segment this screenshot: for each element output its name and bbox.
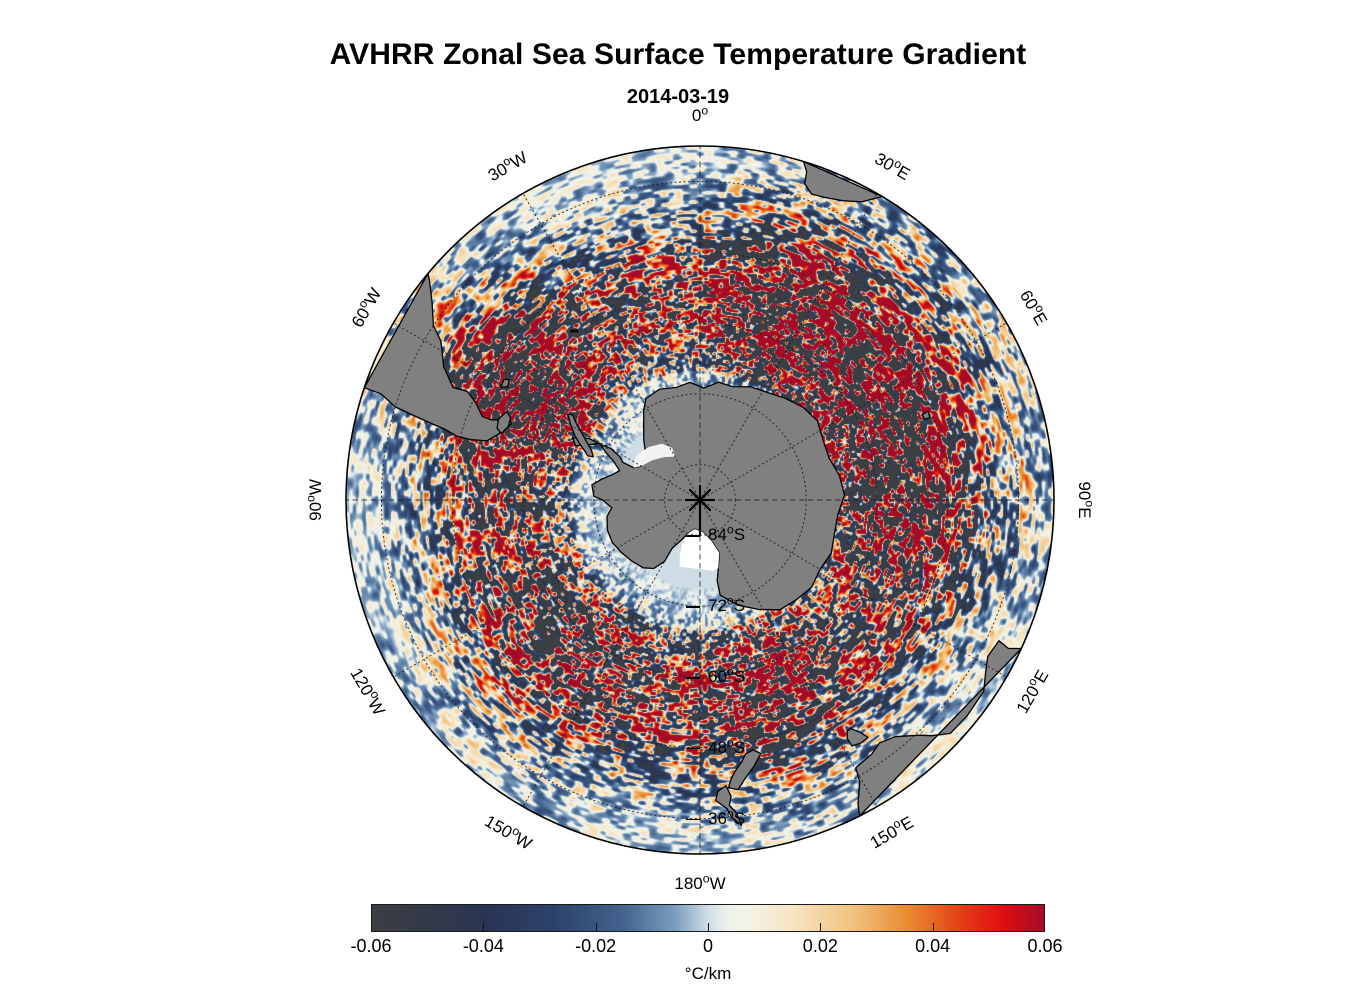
colorbar-tick bbox=[708, 923, 709, 932]
longitude-label-00: 0o bbox=[692, 106, 708, 126]
latitude-tick-36S bbox=[686, 819, 700, 821]
longitude-label-180W: 180oW bbox=[674, 874, 725, 894]
colorbar-ticks bbox=[371, 904, 1045, 932]
latitude-label-36S: 36oS bbox=[708, 809, 745, 829]
latitude-tick-84S bbox=[686, 535, 700, 537]
latitude-label-72S: 72oS bbox=[708, 596, 745, 616]
latitude-tick-60S bbox=[686, 677, 700, 679]
landmass-tierra-del-fuego bbox=[497, 412, 511, 434]
landmass-antarctica bbox=[573, 382, 845, 610]
figure-subtitle: 2014-03-19 bbox=[0, 86, 1356, 109]
landmass-south-america bbox=[364, 273, 511, 441]
latitude-label-84S: 84oS bbox=[708, 525, 745, 545]
polar-map: 0o30oE60oE90oE120oE150oE180oW150oW120oW9… bbox=[345, 145, 1055, 855]
landmass-falklands bbox=[501, 379, 510, 387]
map-disc bbox=[345, 145, 1055, 855]
landmass-peninsula bbox=[568, 414, 593, 457]
colorbar-tick-label: 0.02 bbox=[803, 936, 838, 957]
colorbar-tick-label: 0.04 bbox=[915, 936, 950, 957]
longitude-label-90E: 90oE bbox=[1074, 481, 1094, 518]
colorbar-tick bbox=[483, 923, 484, 932]
landmass-tasmania bbox=[847, 729, 868, 746]
colorbar-tick-label: -0.02 bbox=[575, 936, 616, 957]
colorbar-tick bbox=[933, 923, 934, 932]
colorbar-unit-label: °C/km bbox=[371, 964, 1045, 984]
colorbar-tick bbox=[820, 923, 821, 932]
longitude-label-90W: 90oW bbox=[306, 479, 326, 521]
colorbar-tick-label: 0.06 bbox=[1027, 936, 1062, 957]
latitude-label-60S: 60oS bbox=[708, 667, 745, 687]
map-overlay bbox=[345, 145, 1055, 855]
figure-title: AVHRR Zonal Sea Surface Temperature Grad… bbox=[0, 38, 1356, 72]
latitude-tick-48S bbox=[686, 748, 700, 750]
colorbar-ticklabels: -0.06-0.04-0.0200.020.040.06 bbox=[371, 936, 1045, 960]
latitude-label-48S: 48oS bbox=[708, 738, 745, 758]
latitude-tick-72S bbox=[686, 606, 700, 608]
colorbar-tick-label: -0.06 bbox=[350, 936, 391, 957]
colorbar: -0.06-0.04-0.0200.020.040.06 °C/km bbox=[371, 904, 1045, 992]
colorbar-tick-label: 0 bbox=[703, 936, 713, 957]
landmass-australia bbox=[856, 641, 1022, 816]
colorbar-tick-label: -0.04 bbox=[463, 936, 504, 957]
landmass-south-georgia bbox=[571, 330, 578, 332]
landmass-south-africa bbox=[804, 162, 883, 202]
landmass-kerguelen bbox=[922, 411, 930, 419]
colorbar-tick bbox=[596, 923, 597, 932]
